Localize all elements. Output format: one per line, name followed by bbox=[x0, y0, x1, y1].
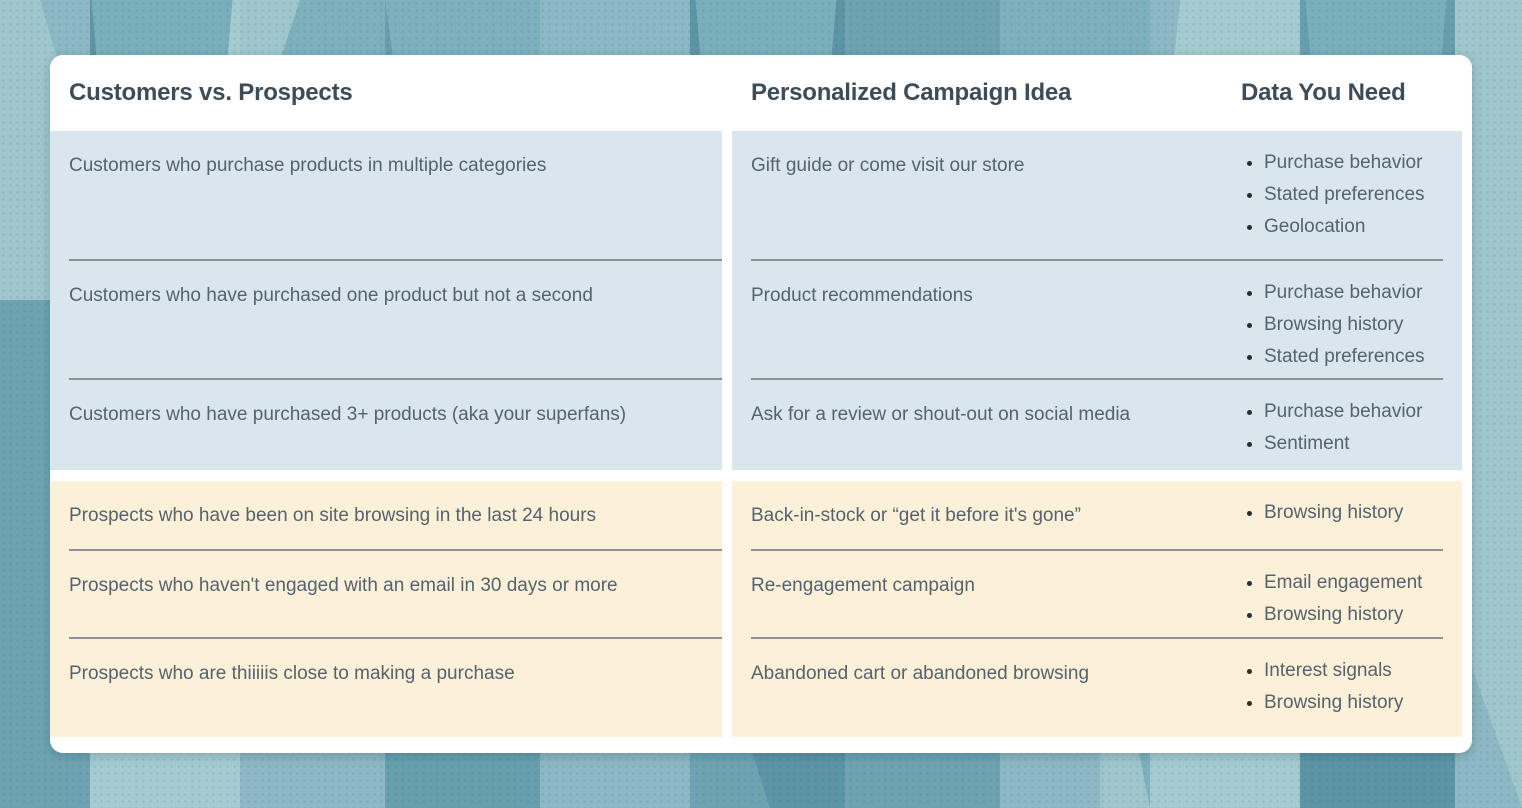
table-row: Purchase behavior Browsing history State… bbox=[1222, 261, 1462, 380]
table-row: Re-engagement campaign bbox=[732, 551, 1222, 639]
prospects-segment-column: Prospects who have been on site browsing… bbox=[50, 481, 722, 737]
segment-text: Customers who have purchased 3+ products… bbox=[69, 404, 626, 425]
list-item: Browsing history bbox=[1241, 693, 1443, 712]
section-divider-gap bbox=[50, 470, 1472, 481]
segment-text: Customers who purchase products in multi… bbox=[69, 155, 546, 176]
campaign-text: Gift guide or come visit our store bbox=[751, 155, 1025, 176]
list-item: Browsing history bbox=[1241, 315, 1443, 334]
table-row: Customers who purchase products in multi… bbox=[50, 131, 722, 261]
column-header-data: Data You Need bbox=[1222, 79, 1462, 108]
comparison-table-card: Customers vs. Prospects Personalized Cam… bbox=[50, 55, 1472, 753]
table-row: Ask for a review or shout-out on social … bbox=[732, 380, 1222, 470]
table-row: Customers who have purchased 3+ products… bbox=[50, 380, 722, 470]
table-row: Email engagement Browsing history bbox=[1222, 551, 1462, 639]
data-needed-list: Purchase behavior Browsing history State… bbox=[1241, 283, 1443, 366]
section-customers: Customers who purchase products in multi… bbox=[50, 131, 1472, 470]
list-item: Email engagement bbox=[1241, 573, 1443, 592]
campaign-text: Product recommendations bbox=[751, 285, 973, 306]
data-needed-list: Email engagement Browsing history bbox=[1241, 573, 1443, 624]
customers-segment-column: Customers who purchase products in multi… bbox=[50, 131, 722, 470]
table-row: Purchase behavior Sentiment bbox=[1222, 380, 1462, 470]
table-row: Product recommendations bbox=[732, 261, 1222, 380]
table-row: Purchase behavior Stated preferences Geo… bbox=[1222, 131, 1462, 261]
column-gap-1 bbox=[722, 131, 732, 470]
list-item: Interest signals bbox=[1241, 661, 1443, 680]
segment-text: Prospects who have been on site browsing… bbox=[69, 505, 596, 526]
data-needed-list: Interest signals Browsing history bbox=[1241, 661, 1443, 712]
segment-text: Prospects who are thiiiiis close to maki… bbox=[69, 663, 515, 684]
table-row: Abandoned cart or abandoned browsing bbox=[732, 639, 1222, 737]
column-gap-1 bbox=[722, 481, 732, 737]
table-row: Prospects who are thiiiiis close to maki… bbox=[50, 639, 722, 737]
list-item: Browsing history bbox=[1241, 605, 1443, 624]
campaign-text: Re-engagement campaign bbox=[751, 575, 975, 596]
prospects-data-column: Browsing history Email engagement Browsi… bbox=[1222, 481, 1462, 737]
customers-data-column: Purchase behavior Stated preferences Geo… bbox=[1222, 131, 1462, 470]
prospects-campaign-column: Back-in-stock or “get it before it's gon… bbox=[732, 481, 1222, 737]
campaign-text: Ask for a review or shout-out on social … bbox=[751, 404, 1130, 425]
table-row: Prospects who haven't engaged with an em… bbox=[50, 551, 722, 639]
data-needed-list: Purchase behavior Sentiment bbox=[1241, 402, 1443, 453]
list-item: Browsing history bbox=[1241, 503, 1443, 522]
list-item: Stated preferences bbox=[1241, 185, 1443, 204]
list-item: Stated preferences bbox=[1241, 347, 1443, 366]
table-row: Back-in-stock or “get it before it's gon… bbox=[732, 481, 1222, 551]
campaign-text: Abandoned cart or abandoned browsing bbox=[751, 663, 1089, 684]
column-header-campaign: Personalized Campaign Idea bbox=[732, 79, 1222, 108]
list-item: Sentiment bbox=[1241, 434, 1443, 453]
table-row: Browsing history bbox=[1222, 481, 1462, 551]
campaign-text: Back-in-stock or “get it before it's gon… bbox=[751, 505, 1081, 526]
segment-text: Prospects who haven't engaged with an em… bbox=[69, 575, 618, 596]
data-needed-list: Purchase behavior Stated preferences Geo… bbox=[1241, 153, 1443, 236]
list-item: Purchase behavior bbox=[1241, 283, 1443, 302]
table-row: Prospects who have been on site browsing… bbox=[50, 481, 722, 551]
column-header-segments: Customers vs. Prospects bbox=[50, 79, 722, 108]
table-header-row: Customers vs. Prospects Personalized Cam… bbox=[50, 55, 1472, 131]
section-prospects: Prospects who have been on site browsing… bbox=[50, 481, 1472, 737]
table-row: Customers who have purchased one product… bbox=[50, 261, 722, 380]
list-item: Geolocation bbox=[1241, 217, 1443, 236]
segment-text: Customers who have purchased one product… bbox=[69, 285, 593, 306]
customers-campaign-column: Gift guide or come visit our store Produ… bbox=[732, 131, 1222, 470]
table-row: Gift guide or come visit our store bbox=[732, 131, 1222, 261]
data-needed-list: Browsing history bbox=[1241, 503, 1443, 522]
list-item: Purchase behavior bbox=[1241, 153, 1443, 172]
table-row: Interest signals Browsing history bbox=[1222, 639, 1462, 737]
list-item: Purchase behavior bbox=[1241, 402, 1443, 421]
